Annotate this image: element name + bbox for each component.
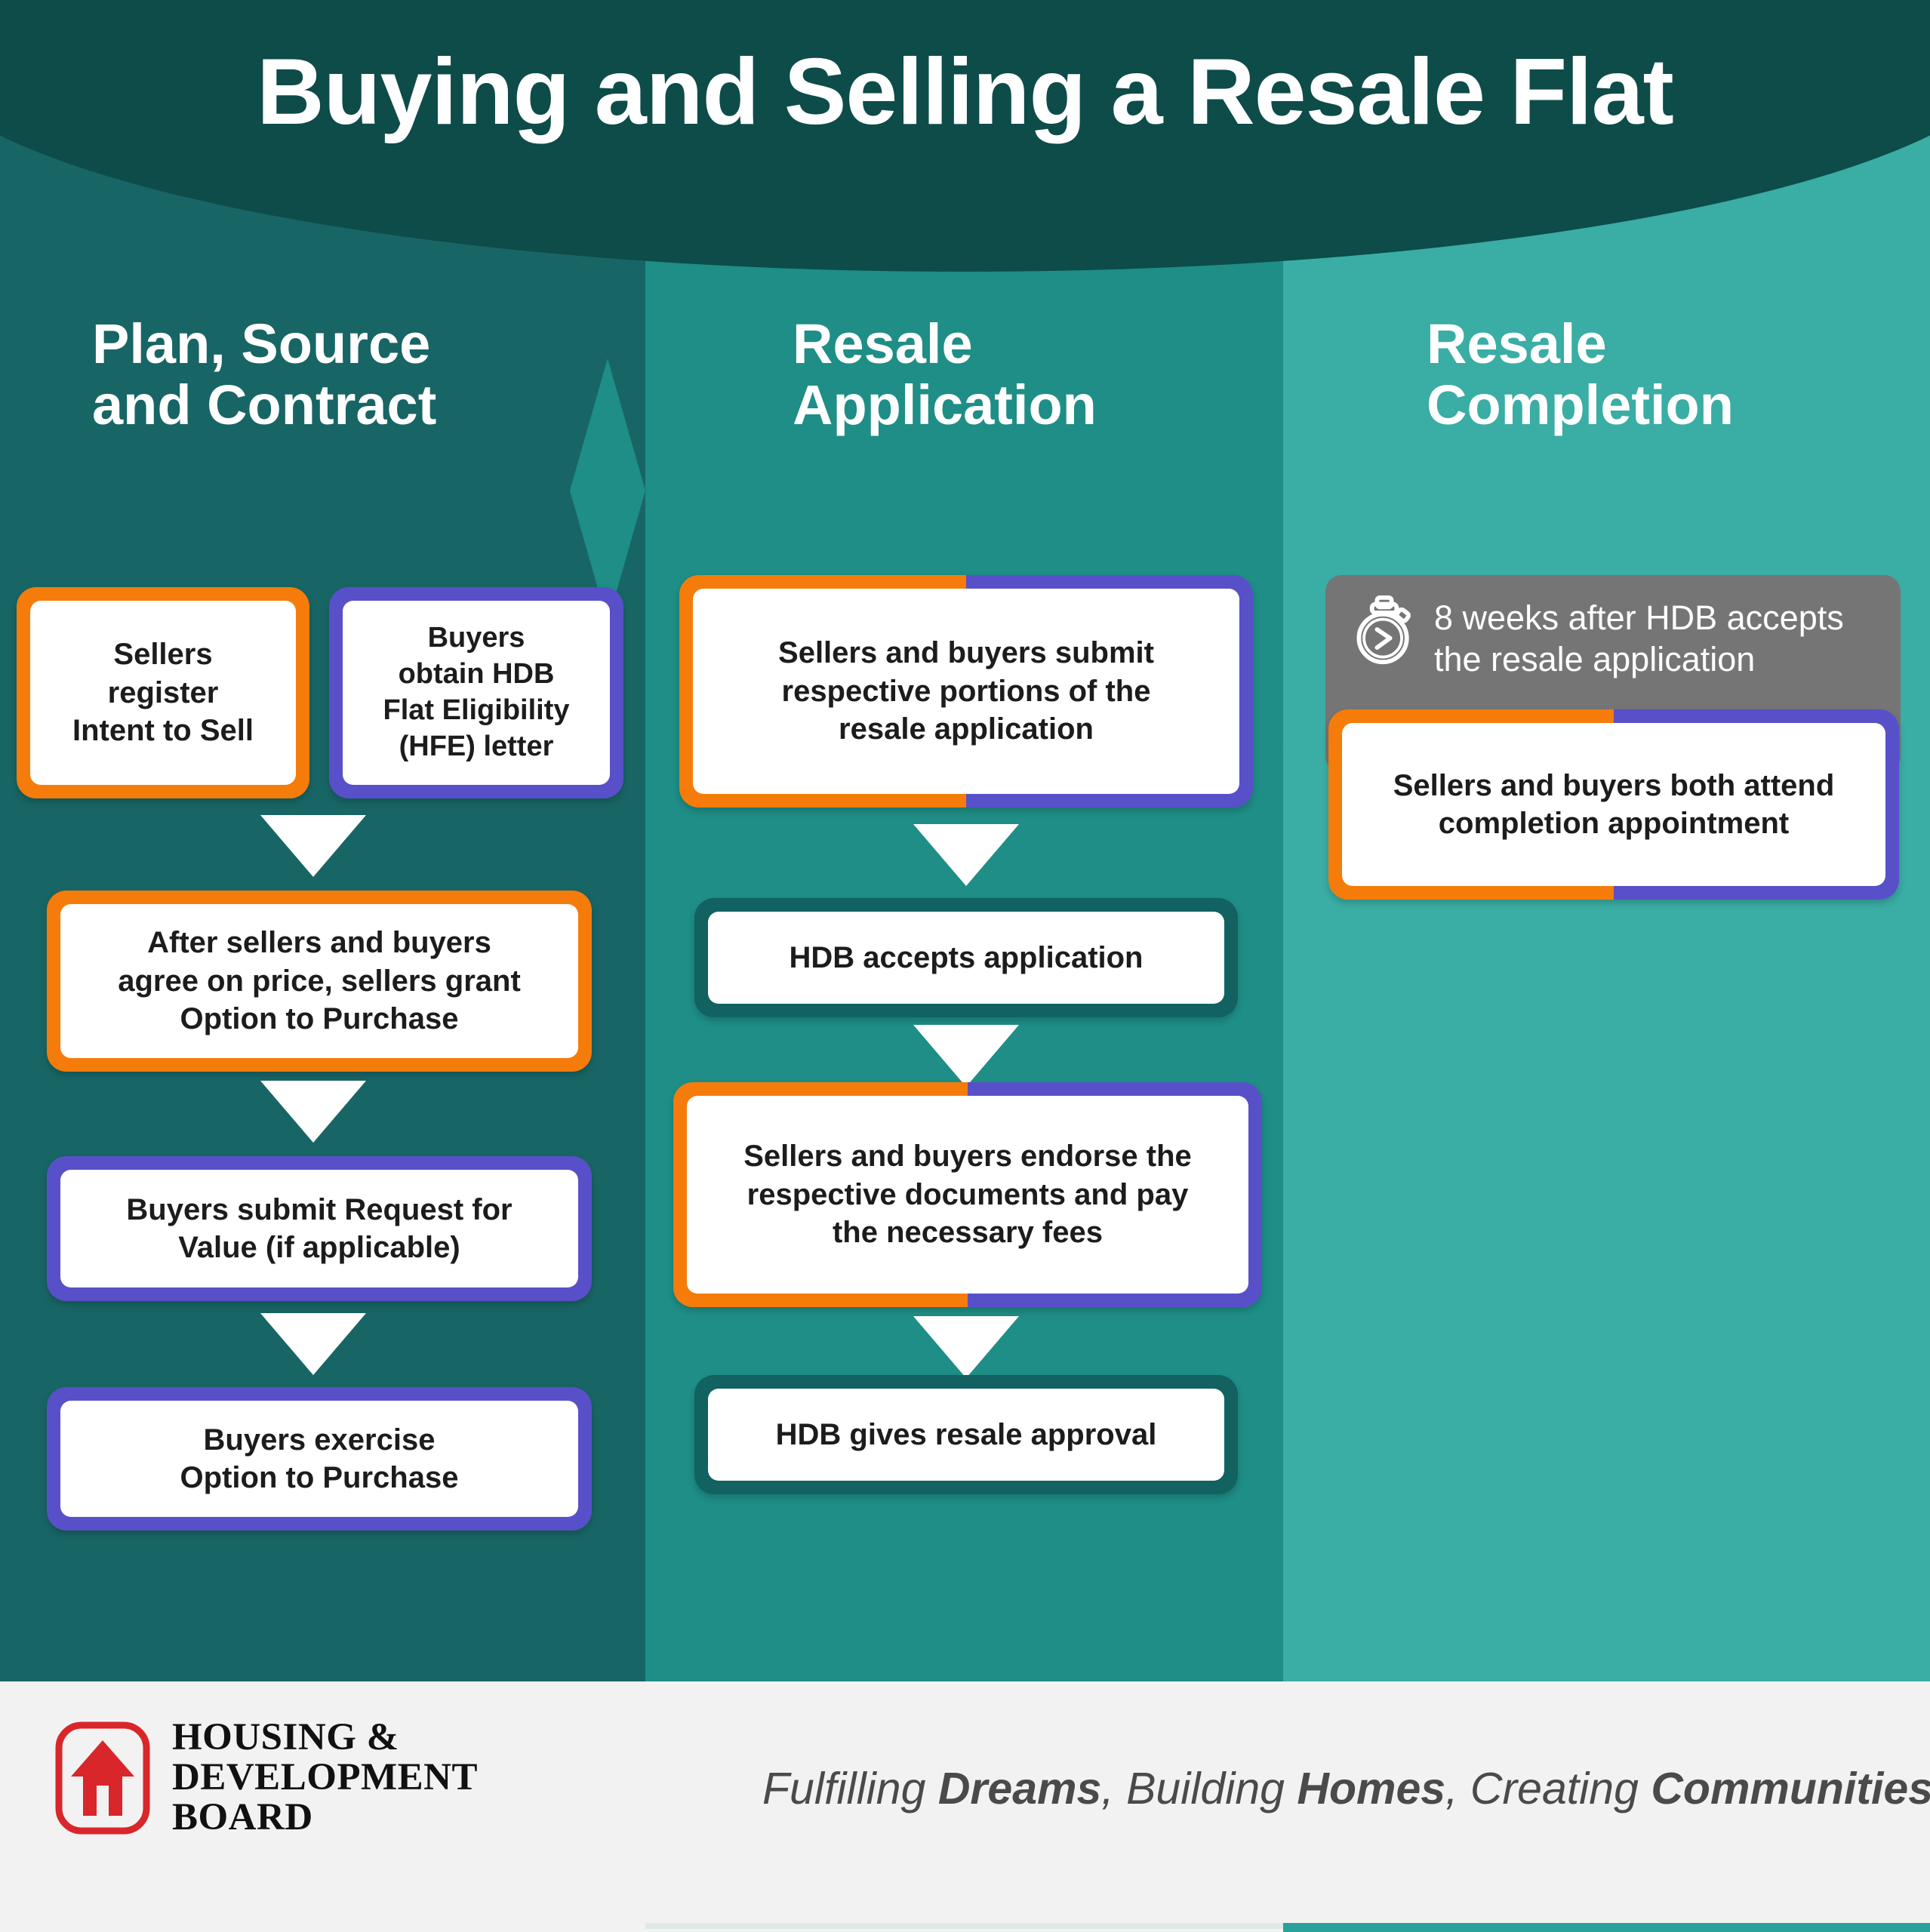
arrow-down-2a: [913, 824, 1019, 886]
step-label: Sellers register Intent to Sell: [30, 601, 296, 785]
timer-text: 8 weeks after HDB accepts the resale app…: [1434, 595, 1844, 681]
tagline-part-3: Homes: [1297, 1764, 1445, 1814]
step-buyers-hfe-letter[interactable]: Buyers obtain HDB Flat Eligibility (HFE)…: [329, 587, 623, 798]
tagline-part-1: Dreams: [938, 1764, 1101, 1814]
arrow-down-2b: [913, 1025, 1019, 1087]
step-label: Sellers and buyers submit respective por…: [693, 589, 1239, 794]
column-heading-resale-application: Resale Application: [793, 313, 1261, 436]
page-title: Buying and Selling a Resale Flat: [0, 45, 1930, 139]
step-label: Buyers exercise Option to Purchase: [60, 1401, 578, 1517]
hdb-logo: HOUSING & DEVELOPMENT BOARD: [54, 1718, 478, 1838]
step-sellers-register-intent[interactable]: Sellers register Intent to Sell: [17, 587, 309, 798]
tagline-part-2: , Building: [1101, 1764, 1297, 1814]
column-heading-resale-completion: Resale Completion: [1427, 313, 1895, 436]
bottom-strip-light: [645, 1923, 1283, 1929]
footer: HOUSING & DEVELOPMENT BOARD Fulfilling D…: [0, 1681, 1930, 1932]
step-endorse-documents-pay-fees[interactable]: Sellers and buyers endorse the respectiv…: [673, 1082, 1262, 1307]
hdb-tagline: Fulfilling Dreams, Building Homes, Creat…: [762, 1763, 1902, 1814]
arrow-down-1a: [260, 815, 366, 877]
hdb-logo-text: HOUSING & DEVELOPMENT BOARD: [172, 1718, 478, 1838]
tagline-part-4: , Creating: [1445, 1764, 1651, 1814]
step-request-for-value[interactable]: Buyers submit Request for Value (if appl…: [47, 1156, 592, 1301]
stopwatch-icon: [1348, 595, 1421, 667]
step-label: HDB gives resale approval: [708, 1389, 1224, 1481]
arrow-down-1b: [260, 1081, 366, 1143]
tagline-part-5: Communities: [1651, 1764, 1930, 1814]
step-label: Buyers submit Request for Value (if appl…: [60, 1170, 578, 1287]
arrow-down-1c: [260, 1313, 366, 1375]
step-hdb-gives-resale-approval[interactable]: HDB gives resale approval: [694, 1375, 1238, 1494]
step-label: Buyers obtain HDB Flat Eligibility (HFE)…: [343, 601, 610, 785]
arrow-down-2c: [913, 1316, 1019, 1378]
bottom-strip-teal: [1283, 1923, 1930, 1932]
step-option-to-purchase-granted[interactable]: After sellers and buyers agree on price,…: [47, 891, 592, 1072]
hdb-house-arrow-logo-icon: [54, 1721, 151, 1835]
step-submit-resale-application[interactable]: Sellers and buyers submit respective por…: [679, 575, 1253, 808]
column-heading-plan-source-contract: Plan, Source and Contract: [92, 313, 620, 436]
step-exercise-option-to-purchase[interactable]: Buyers exercise Option to Purchase: [47, 1387, 592, 1531]
step-label: Sellers and buyers both attend completio…: [1342, 723, 1885, 886]
step-hdb-accepts-application[interactable]: HDB accepts application: [694, 898, 1238, 1017]
step-label: After sellers and buyers agree on price,…: [60, 904, 578, 1058]
infographic-canvas: Buying and Selling a Resale Flat Plan, S…: [0, 0, 1930, 1932]
tagline-part-0: Fulfilling: [762, 1764, 938, 1814]
step-completion-appointment[interactable]: Sellers and buyers both attend completio…: [1328, 709, 1899, 900]
step-label: Sellers and buyers endorse the respectiv…: [687, 1096, 1248, 1294]
step-label: HDB accepts application: [708, 912, 1224, 1004]
